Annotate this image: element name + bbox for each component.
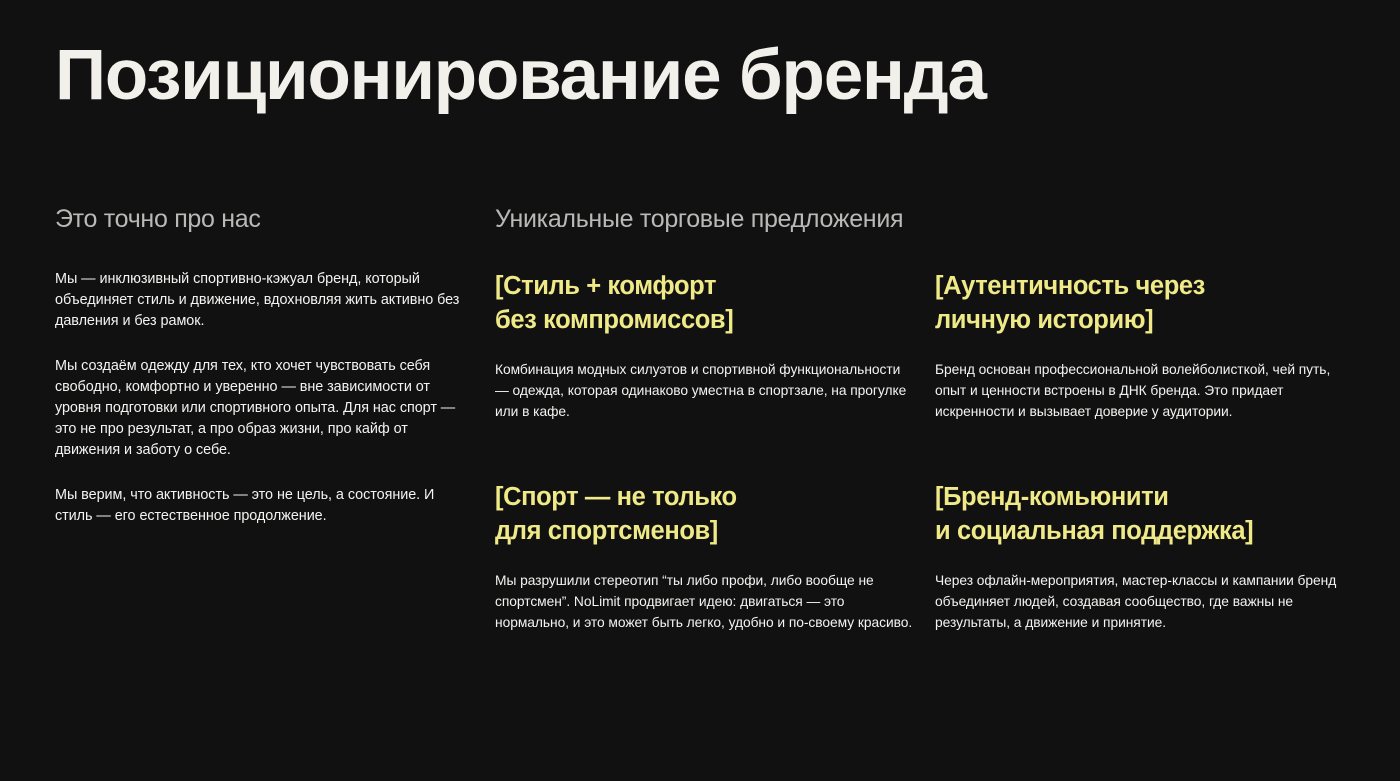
about-us-column: Это точно про нас Мы — инклюзивный спорт… [55,205,475,527]
usp-card: [Аутентичность через личную историю] Бре… [935,269,1345,422]
usp-card: [Спорт — не только для спортсменов] Мы р… [495,480,935,633]
about-us-paragraph: Мы создаём одежду для тех, кто хочет чув… [55,356,475,461]
usp-heading: Уникальные торговые предложения [495,205,1345,234]
usp-card: [Бренд-комьюнити и социальная поддержка]… [935,480,1345,633]
slide-root: Позиционирование бренда Это точно про на… [0,0,1400,781]
usp-card-body: Через офлайн-мероприятия, мастер-классы … [935,570,1345,633]
usp-grid: [Стиль + комфорт без компромиссов] Комби… [495,269,1345,633]
usp-card-body: Мы разрушили стереотип “ты либо профи, л… [495,570,915,633]
usp-card-body: Комбинация модных силуэтов и спортивной … [495,359,915,422]
usp-card-title: [Стиль + комфорт без компромиссов] [495,269,935,337]
page-title: Позиционирование бренда [55,40,986,111]
about-us-heading: Это точно про нас [55,205,475,234]
about-us-paragraph: Мы верим, что активность — это не цель, … [55,485,475,527]
usp-card-title: [Аутентичность через личную историю] [935,269,1345,337]
usp-card-title: [Бренд-комьюнити и социальная поддержка] [935,480,1345,548]
usp-card-body: Бренд основан профессиональной волейболи… [935,359,1345,422]
about-us-paragraph: Мы — инклюзивный спортивно-кэжуал бренд,… [55,269,475,332]
usp-card-title: [Спорт — не только для спортсменов] [495,480,935,548]
usp-card: [Стиль + комфорт без компромиссов] Комби… [495,269,935,422]
usp-column: Уникальные торговые предложения [Стиль +… [495,205,1345,633]
